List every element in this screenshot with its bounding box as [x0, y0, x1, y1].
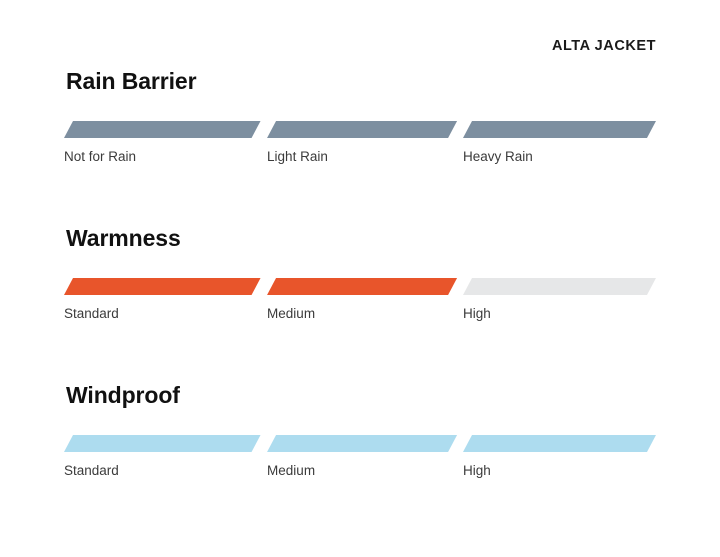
- scale-warmness: Warmness Standard Medium High: [64, 227, 656, 323]
- scale-label-rain-2: Light Rain: [267, 148, 328, 166]
- scale-label-windproof-3: High: [463, 462, 491, 480]
- bar-segment-warmness-2: [267, 278, 457, 295]
- bar-segment-windproof-1: [64, 435, 261, 452]
- labels-row-windproof: Standard Medium High: [64, 462, 656, 480]
- scale-label-windproof-1: Standard: [64, 462, 119, 480]
- scale-label-warmness-1: Standard: [64, 305, 119, 323]
- scale-label-windproof-2: Medium: [267, 462, 315, 480]
- bar-track-warmness: [64, 278, 656, 295]
- labels-row-rain-barrier: Not for Rain Light Rain Heavy Rain: [64, 148, 656, 166]
- bar-segment-windproof-2: [267, 435, 457, 452]
- bar-segment-rain-1: [64, 121, 261, 138]
- scale-heading-rain-barrier: Rain Barrier: [66, 70, 656, 93]
- product-title: ALTA JACKET: [552, 38, 656, 54]
- bar-track-rain-barrier: [64, 121, 656, 138]
- bar-segment-rain-3: [463, 121, 656, 138]
- scale-label-rain-1: Not for Rain: [64, 148, 136, 166]
- scale-heading-warmness: Warmness: [66, 227, 656, 250]
- bar-segment-rain-2: [267, 121, 457, 138]
- scale-windproof: Windproof Standard Medium High: [64, 384, 656, 480]
- scale-label-warmness-3: High: [463, 305, 491, 323]
- bar-track-windproof: [64, 435, 656, 452]
- bar-segment-warmness-1: [64, 278, 261, 295]
- scale-heading-windproof: Windproof: [66, 384, 656, 407]
- scale-label-warmness-2: Medium: [267, 305, 315, 323]
- scale-rain-barrier: Rain Barrier Not for Rain Light Rain Hea…: [64, 70, 656, 166]
- bar-segment-warmness-3: [463, 278, 656, 295]
- scale-label-rain-3: Heavy Rain: [463, 148, 533, 166]
- bar-segment-windproof-3: [463, 435, 656, 452]
- labels-row-warmness: Standard Medium High: [64, 305, 656, 323]
- rating-scales-group: Rain Barrier Not for Rain Light Rain Hea…: [64, 70, 656, 480]
